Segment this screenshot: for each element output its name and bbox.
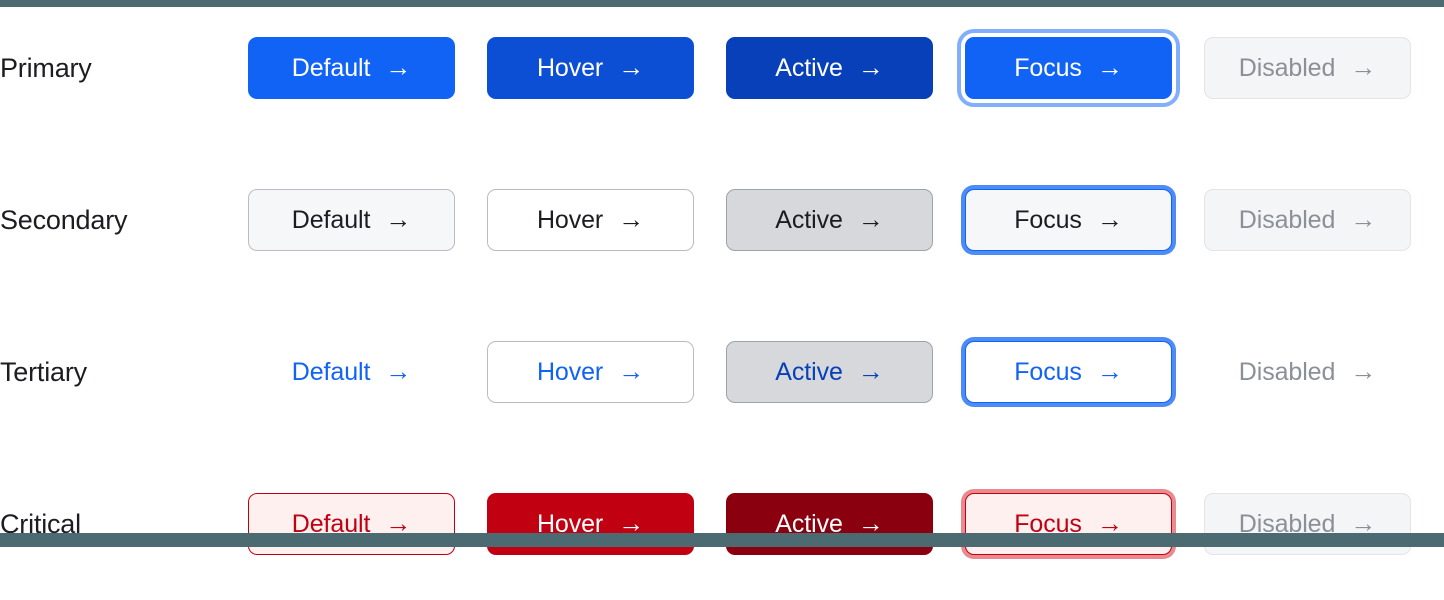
cell-primary-disabled: Disabled → <box>1204 37 1443 99</box>
button-label: Hover <box>537 360 603 385</box>
button-tertiary-disabled: Disabled → <box>1204 341 1411 403</box>
button-row-primary: Primary Default → Hover → Active → Focus… <box>0 0 1444 144</box>
button-primary-active[interactable]: Active → <box>726 37 933 99</box>
arrow-right-icon: → <box>1350 54 1376 80</box>
row-label-tertiary: Tertiary <box>0 356 248 388</box>
cell-primary-hover: Hover → <box>487 37 726 99</box>
arrow-right-icon: → <box>1097 54 1123 80</box>
row-label-primary: Primary <box>0 52 248 84</box>
button-label: Default <box>292 56 371 81</box>
button-secondary-disabled: Disabled → <box>1204 189 1411 251</box>
button-label: Active <box>775 208 842 233</box>
cell-primary-focus: Focus → <box>965 37 1204 99</box>
arrow-right-icon: → <box>618 54 644 80</box>
button-row-secondary: Secondary Default → Hover → Active → Foc… <box>0 144 1444 296</box>
cell-secondary-default: Default → <box>248 189 487 251</box>
cell-primary-active: Active → <box>726 37 965 99</box>
cell-secondary-active: Active → <box>726 189 965 251</box>
button-label: Default <box>292 360 371 385</box>
arrow-right-icon: → <box>618 206 644 232</box>
button-secondary-focus[interactable]: Focus → <box>965 189 1172 251</box>
button-primary-focus[interactable]: Focus → <box>965 37 1172 99</box>
cell-primary-default: Default → <box>248 37 487 99</box>
arrow-right-icon: → <box>1097 206 1123 232</box>
arrow-right-icon: → <box>858 54 884 80</box>
button-secondary-default[interactable]: Default → <box>248 189 455 251</box>
arrow-right-icon: → <box>1350 206 1376 232</box>
button-label: Hover <box>537 56 603 81</box>
button-secondary-active[interactable]: Active → <box>726 189 933 251</box>
button-label: Disabled <box>1239 208 1335 233</box>
button-secondary-hover[interactable]: Hover → <box>487 189 694 251</box>
arrow-right-icon: → <box>618 358 644 384</box>
button-state-matrix: Primary Default → Hover → Active → Focus… <box>0 7 1444 533</box>
button-tertiary-hover[interactable]: Hover → <box>487 341 694 403</box>
button-label: Hover <box>537 208 603 233</box>
arrow-right-icon: → <box>1097 358 1123 384</box>
arrow-right-icon: → <box>858 358 884 384</box>
button-label: Focus <box>1014 56 1082 81</box>
button-tertiary-focus[interactable]: Focus → <box>965 341 1172 403</box>
button-label: Active <box>775 360 842 385</box>
button-row-tertiary: Tertiary Default → Hover → Active → Focu… <box>0 296 1444 448</box>
cell-secondary-focus: Focus → <box>965 189 1204 251</box>
arrow-right-icon: → <box>385 206 411 232</box>
cell-secondary-disabled: Disabled → <box>1204 189 1443 251</box>
arrow-right-icon: → <box>385 358 411 384</box>
button-tertiary-default[interactable]: Default → <box>248 341 455 403</box>
button-primary-hover[interactable]: Hover → <box>487 37 694 99</box>
cell-tertiary-default: Default → <box>248 341 487 403</box>
button-primary-default[interactable]: Default → <box>248 37 455 99</box>
button-row-critical: Critical Default → Hover → Active → Focu… <box>0 448 1444 600</box>
button-label: Default <box>292 208 371 233</box>
bottom-chrome-bar <box>0 533 1444 547</box>
button-label: Disabled <box>1239 360 1335 385</box>
button-label: Focus <box>1014 360 1082 385</box>
button-tertiary-active[interactable]: Active → <box>726 341 933 403</box>
arrow-right-icon: → <box>858 206 884 232</box>
cell-secondary-hover: Hover → <box>487 189 726 251</box>
button-label: Focus <box>1014 208 1082 233</box>
cell-tertiary-focus: Focus → <box>965 341 1204 403</box>
button-label: Active <box>775 56 842 81</box>
arrow-right-icon: → <box>385 54 411 80</box>
cell-tertiary-disabled: Disabled → <box>1204 341 1443 403</box>
arrow-right-icon: → <box>1350 358 1376 384</box>
cell-tertiary-hover: Hover → <box>487 341 726 403</box>
button-primary-disabled: Disabled → <box>1204 37 1411 99</box>
button-label: Disabled <box>1239 56 1335 81</box>
cell-tertiary-active: Active → <box>726 341 965 403</box>
row-label-secondary: Secondary <box>0 204 248 236</box>
